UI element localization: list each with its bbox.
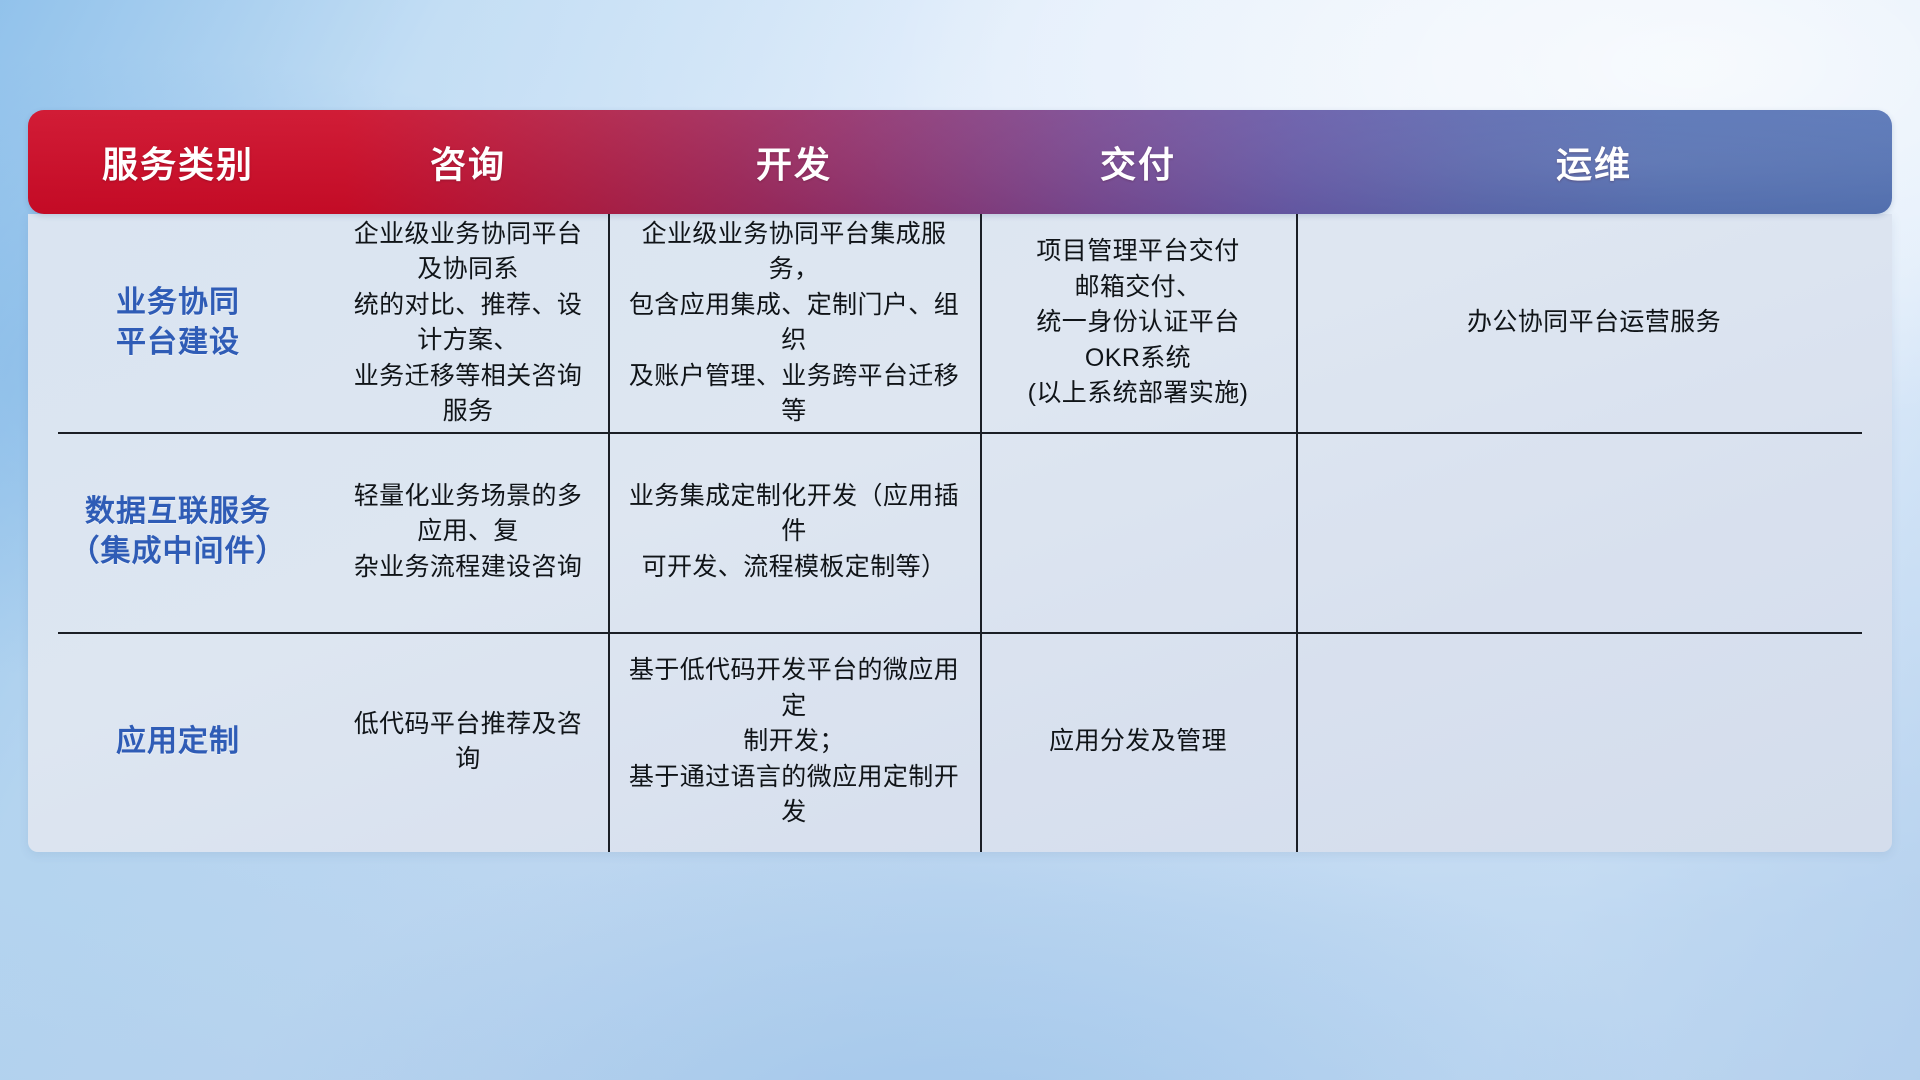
cell-consulting: 企业级业务协同平台及协同系 统的对比、推荐、设计方案、 业务迁移等相关咨询服务	[328, 214, 608, 432]
cell-text: 项目管理平台交付 邮箱交付、 统一身份认证平台 OKR系统 (以上系统部署实施)	[1028, 234, 1249, 412]
cell-text: 企业级业务协同平台集成服务， 包含应用集成、定制门户、组织 及账户管理、业务跨平…	[626, 217, 962, 430]
cell-text: 办公协同平台运营服务	[1467, 305, 1721, 341]
cell-text: 基于低代码开发平台的微应用定 制开发； 基于通过语言的微应用定制开发	[626, 653, 962, 831]
cell-operations	[1296, 632, 1892, 852]
row-label-cell: 应用定制	[28, 632, 328, 852]
table-body: 业务协同 平台建设 企业级业务协同平台及协同系 统的对比、推荐、设计方案、 业务…	[28, 214, 1892, 852]
cell-consulting: 轻量化业务场景的多应用、复 杂业务流程建设咨询	[328, 432, 608, 632]
table-row: 业务协同 平台建设 企业级业务协同平台及协同系 统的对比、推荐、设计方案、 业务…	[28, 214, 1892, 432]
column-header-consulting: 咨询	[328, 110, 608, 214]
cell-text: 应用分发及管理	[1049, 724, 1227, 760]
column-header-development: 开发	[608, 110, 980, 214]
cell-text: 企业级业务协同平台及协同系 统的对比、推荐、设计方案、 业务迁移等相关咨询服务	[346, 217, 590, 430]
cell-delivery: 项目管理平台交付 邮箱交付、 统一身份认证平台 OKR系统 (以上系统部署实施)	[980, 214, 1296, 432]
table-row: 数据互联服务 （集成中间件） 轻量化业务场景的多应用、复 杂业务流程建设咨询 业…	[28, 432, 1892, 632]
cell-operations	[1296, 432, 1892, 632]
cell-development: 业务集成定制化开发（应用插件 可开发、流程模板定制等）	[608, 432, 980, 632]
row-label-text: 数据互联服务 （集成中间件）	[70, 492, 287, 573]
service-matrix-table: 服务类别 咨询 开发 交付 运维 业务协同 平台建设 企业级业务协同平台及协同系…	[28, 110, 1892, 852]
cell-development: 基于低代码开发平台的微应用定 制开发； 基于通过语言的微应用定制开发	[608, 632, 980, 852]
column-header-operations: 运维	[1296, 110, 1892, 214]
cell-development: 企业级业务协同平台集成服务， 包含应用集成、定制门户、组织 及账户管理、业务跨平…	[608, 214, 980, 432]
column-header-category: 服务类别	[28, 110, 328, 214]
row-label-text: 应用定制	[116, 722, 240, 763]
cell-consulting: 低代码平台推荐及咨询	[328, 632, 608, 852]
cell-operations: 办公协同平台运营服务	[1296, 214, 1892, 432]
cell-text: 轻量化业务场景的多应用、复 杂业务流程建设咨询	[346, 479, 590, 586]
row-label-cell: 业务协同 平台建设	[28, 214, 328, 432]
row-label-cell: 数据互联服务 （集成中间件）	[28, 432, 328, 632]
table-row: 应用定制 低代码平台推荐及咨询 基于低代码开发平台的微应用定 制开发； 基于通过…	[28, 632, 1892, 852]
column-header-delivery: 交付	[980, 110, 1296, 214]
cell-delivery: 应用分发及管理	[980, 632, 1296, 852]
table-header-row: 服务类别 咨询 开发 交付 运维	[28, 110, 1892, 214]
row-label-text: 业务协同 平台建设	[116, 283, 240, 364]
cell-text: 业务集成定制化开发（应用插件 可开发、流程模板定制等）	[626, 479, 962, 586]
cell-text: 低代码平台推荐及咨询	[346, 707, 590, 778]
cell-delivery	[980, 432, 1296, 632]
